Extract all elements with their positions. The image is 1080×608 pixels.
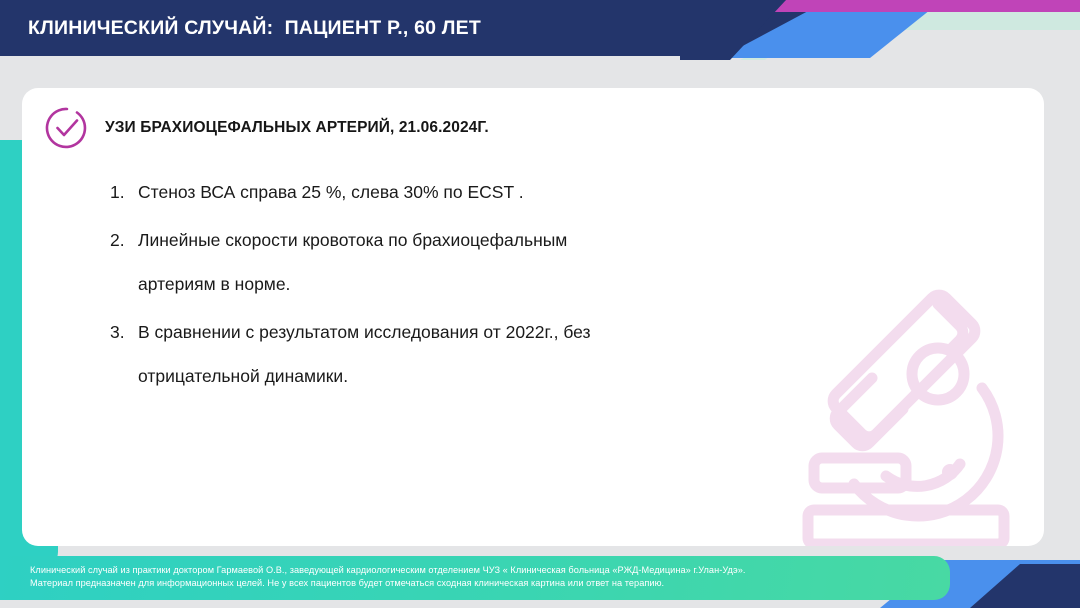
header-ribbon-decoration (680, 0, 1080, 60)
list-item-text: Линейные скорости кровотока по брахиоцеф… (138, 218, 567, 306)
footer-line-1: Клинический случай из практики доктором … (30, 565, 746, 575)
card-heading-text: УЗИ БРАХИОЦЕФАЛЬНЫХ АРТЕРИЙ, 21.06.2024Г… (105, 119, 489, 137)
ribbon-magenta (768, 0, 1080, 12)
content-card: УЗИ БРАХИОЦЕФАЛЬНЫХ АРТЕРИЙ, 21.06.2024Г… (22, 88, 1044, 546)
page-title: КЛИНИЧЕСКИЙ СЛУЧАЙ: ПАЦИЕНТ Р., 60 ЛЕТ (28, 0, 481, 56)
list-item-text: Стеноз ВСА справа 25 %, слева 30% по ECS… (138, 170, 524, 214)
card-heading: УЗИ БРАХИОЦЕФАЛЬНЫХ АРТЕРИЙ, 21.06.2024Г… (44, 105, 489, 151)
list-item-number: 1. (110, 170, 138, 214)
slide: КЛИНИЧЕСКИЙ СЛУЧАЙ: ПАЦИЕНТ Р., 60 ЛЕТ (0, 0, 1080, 608)
list-item: 2. Линейные скорости кровотока по брахио… (110, 218, 810, 306)
list-item: 1. Стеноз ВСА справа 25 %, слева 30% по … (110, 170, 810, 214)
list-item-text: В сравнении с результатом исследования о… (138, 310, 591, 398)
circle-check-icon (44, 105, 90, 151)
footer-disclaimer: Клинический случай из практики доктором … (0, 556, 950, 600)
footer-line-2: Материал предназначен для информационных… (30, 578, 664, 588)
microscope-icon (786, 282, 1036, 546)
list-item-number: 2. (110, 218, 138, 262)
list-item: 3. В сравнении с результатом исследовани… (110, 310, 810, 398)
findings-list: 1. Стеноз ВСА справа 25 %, слева 30% по … (110, 170, 810, 402)
list-item-number: 3. (110, 310, 138, 354)
